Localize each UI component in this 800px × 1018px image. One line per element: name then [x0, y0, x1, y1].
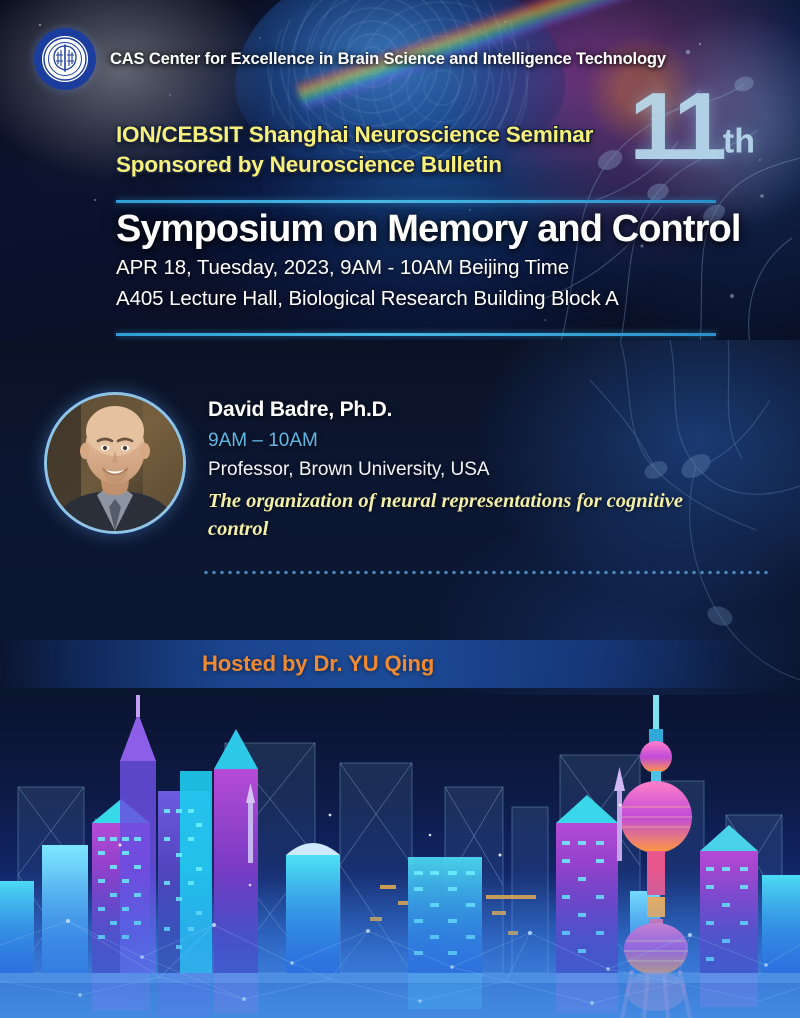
avatar — [44, 392, 186, 534]
speaker-affiliation: Professor, Brown University, USA — [208, 459, 768, 481]
speaker-info: David Badre, Ph.D. 9AM – 10AM Professor,… — [208, 398, 768, 543]
seminar-poster: 11th CAS Center for Excellence in Brain … — [0, 0, 800, 1018]
speaker-name: David Badre, Ph.D. — [208, 398, 768, 422]
cosmic-header-background: 11th CAS Center for Excellence in Brain … — [0, 0, 800, 345]
event-datetime: APR 18, Tuesday, 2023, 9AM - 10AM Beijin… — [116, 253, 796, 282]
speaker-time: 9AM – 10AM — [208, 430, 768, 452]
dotted-divider — [202, 570, 768, 575]
page-title: Symposium on Memory and Control — [116, 208, 796, 251]
seminar-subtitle: ION/CEBSIT Shanghai Neuroscience Seminar… — [116, 120, 716, 180]
seminar-line-2: Sponsored by Neuroscience Bulletin — [116, 150, 716, 180]
organization-name: CAS Center for Excellence in Brain Scien… — [110, 50, 666, 69]
organization-header: CAS Center for Excellence in Brain Scien… — [34, 28, 666, 90]
speaker-portrait-icon — [47, 395, 183, 531]
event-venue: A405 Lecture Hall, Biological Research B… — [116, 284, 796, 313]
title-block: Symposium on Memory and Control APR 18, … — [116, 208, 796, 313]
divider-bottom — [116, 333, 716, 336]
seminar-line-1: ION/CEBSIT Shanghai Neuroscience Seminar — [116, 120, 716, 150]
shanghai-skyline-icon — [0, 695, 800, 1018]
divider-top — [116, 200, 716, 203]
host-band: Hosted by Dr. YU Qing — [0, 640, 800, 688]
edition-ordinal: th — [723, 123, 755, 161]
cas-brain-logo-icon — [34, 28, 96, 90]
speaker-talk-title: The organization of neural representatio… — [208, 488, 743, 543]
host-label: Hosted by Dr. YU Qing — [202, 651, 434, 677]
